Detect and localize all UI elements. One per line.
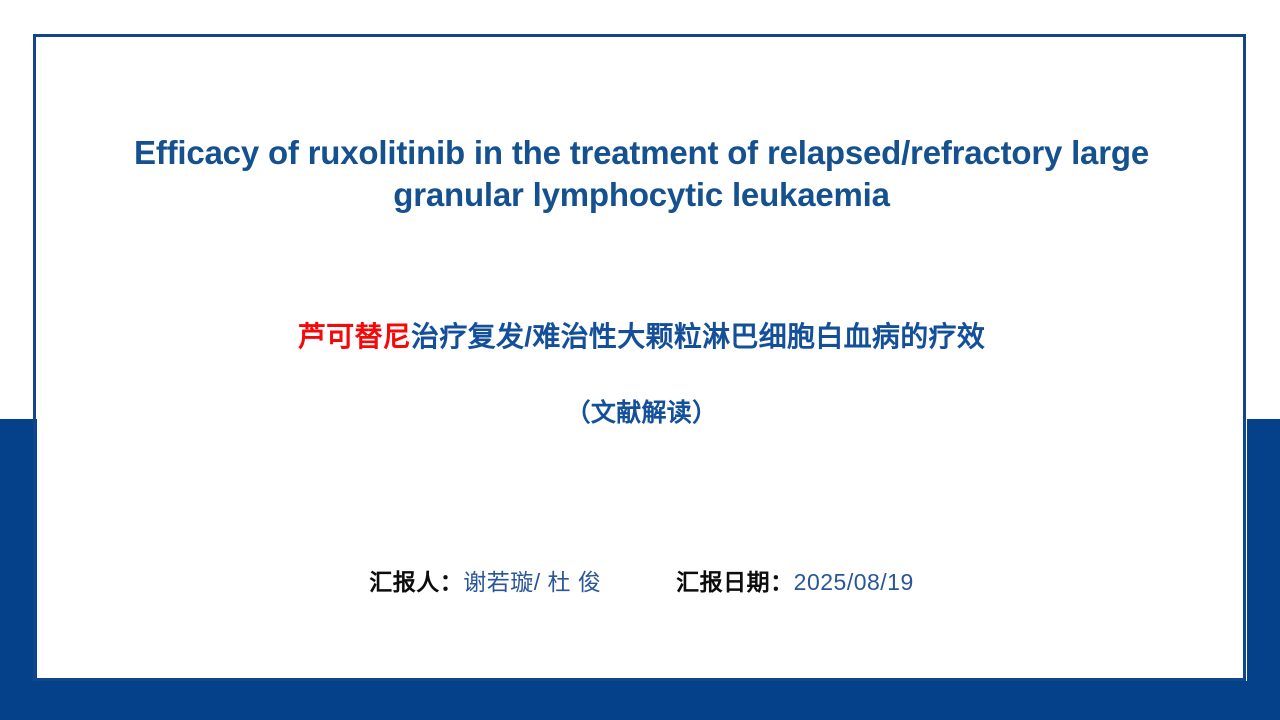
presenter-value: 谢若璇/ 杜 俊 bbox=[463, 569, 601, 595]
decor-left-blue-column bbox=[0, 419, 37, 720]
date-label: 汇报日期： bbox=[676, 569, 794, 595]
presenter-label: 汇报人： bbox=[369, 569, 463, 595]
drug-name-highlight: 芦可替尼 bbox=[298, 321, 411, 352]
subtitle-chinese-rest: 治疗复发/难治性大颗粒淋巴细胞白血病的疗效 bbox=[411, 321, 985, 352]
decor-bottom-blue-band bbox=[0, 681, 1280, 720]
date-group: 汇报日期：2025/08/19 bbox=[676, 566, 914, 598]
page-title: Efficacy of ruxolitinib in the treatment… bbox=[87, 132, 1196, 216]
decor-right-blue-column bbox=[1247, 419, 1280, 720]
presentation-meta-row: 汇报人：谢若璇/ 杜 俊 汇报日期：2025/08/19 bbox=[87, 566, 1196, 598]
subtitle-chinese: 芦可替尼治疗复发/难治性大颗粒淋巴细胞白血病的疗效 bbox=[87, 318, 1196, 356]
subtitle-note: （文献解读） bbox=[87, 396, 1196, 430]
presenter-group: 汇报人：谢若璇/ 杜 俊 bbox=[369, 566, 601, 598]
slide-text-stack: Efficacy of ruxolitinib in the treatment… bbox=[37, 37, 1246, 680]
date-value: 2025/08/19 bbox=[794, 569, 914, 595]
title-slide: Efficacy of ruxolitinib in the treatment… bbox=[0, 0, 1280, 720]
